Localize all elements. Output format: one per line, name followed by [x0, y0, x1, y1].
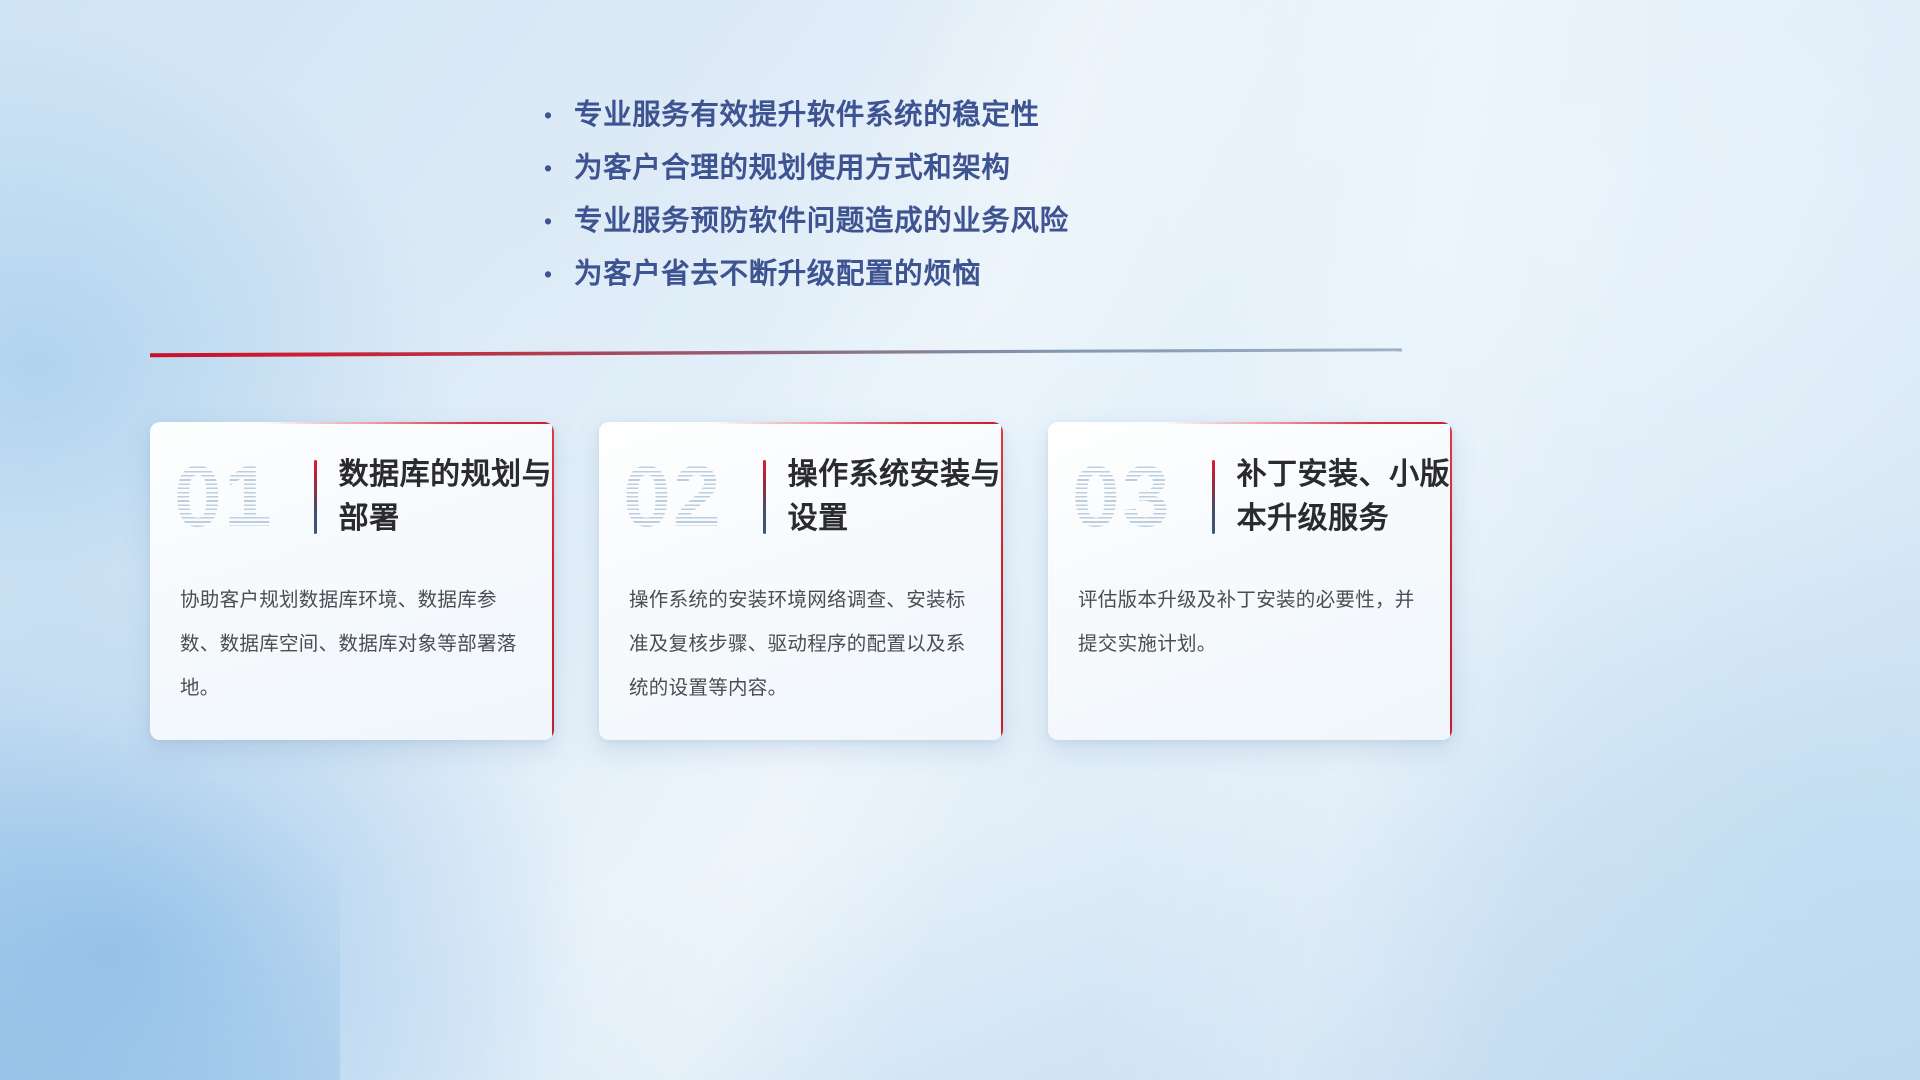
section-divider	[150, 348, 1402, 362]
bullet-text: 为客户省去不断升级配置的烦恼	[574, 249, 981, 299]
card-header: 02 操作系统安装与设置	[599, 422, 1003, 572]
bullet-dot-icon: •	[540, 143, 574, 193]
card-title: 操作系统安装与设置	[788, 453, 1003, 541]
card-02[interactable]: 02 操作系统安装与设置 操作系统的安装环境网络调查、安装标准及复核步骤、驱动程…	[599, 422, 1003, 740]
card-header: 01 数据库的规划与部署	[150, 422, 554, 572]
slide-canvas: • 专业服务有效提升软件系统的稳定性 • 为客户合理的规划使用方式和架构 • 专…	[0, 0, 1920, 1080]
bullet-text: 为客户合理的规划使用方式和架构	[574, 143, 1011, 193]
card-body-text: 评估版本升级及补丁安装的必要性，并提交实施计划。	[1048, 572, 1452, 666]
card-divider-bar	[314, 460, 317, 534]
card-number-watermark: 03	[1072, 454, 1206, 540]
bullet-list: • 专业服务有效提升软件系统的稳定性 • 为客户合理的规划使用方式和架构 • 专…	[540, 90, 1300, 302]
card-03[interactable]: 03 补丁安装、小版本升级服务 评估版本升级及补丁安装的必要性，并提交实施计划。	[1048, 422, 1452, 740]
bullet-text: 专业服务预防软件问题造成的业务风险	[574, 196, 1069, 246]
bullet-dot-icon: •	[540, 249, 574, 299]
list-item: • 专业服务预防软件问题造成的业务风险	[540, 196, 1300, 248]
card-title: 补丁安装、小版本升级服务	[1237, 453, 1452, 541]
card-divider-bar	[1212, 460, 1215, 534]
card-body-text: 协助客户规划数据库环境、数据库参数、数据库空间、数据库对象等部署落地。	[150, 572, 554, 710]
card-title: 数据库的规划与部署	[339, 453, 554, 541]
card-01[interactable]: 01 数据库的规划与部署 协助客户规划数据库环境、数据库参数、数据库空间、数据库…	[150, 422, 554, 740]
card-header: 03 补丁安装、小版本升级服务	[1048, 422, 1452, 572]
card-body-text: 操作系统的安装环境网络调查、安装标准及复核步骤、驱动程序的配置以及系统的设置等内…	[599, 572, 1003, 710]
list-item: • 为客户合理的规划使用方式和架构	[540, 143, 1300, 195]
bullet-dot-icon: •	[540, 90, 574, 140]
card-divider-bar	[763, 460, 766, 534]
bullet-dot-icon: •	[540, 196, 574, 246]
card-number-watermark: 02	[623, 454, 757, 540]
divider-line-icon	[150, 348, 1402, 362]
list-item: • 为客户省去不断升级配置的烦恼	[540, 249, 1300, 301]
bullet-text: 专业服务有效提升软件系统的稳定性	[574, 90, 1040, 140]
card-row: 01 数据库的规划与部署 协助客户规划数据库环境、数据库参数、数据库空间、数据库…	[150, 422, 1452, 742]
list-item: • 专业服务有效提升软件系统的稳定性	[540, 90, 1300, 142]
card-number-watermark: 01	[174, 454, 308, 540]
